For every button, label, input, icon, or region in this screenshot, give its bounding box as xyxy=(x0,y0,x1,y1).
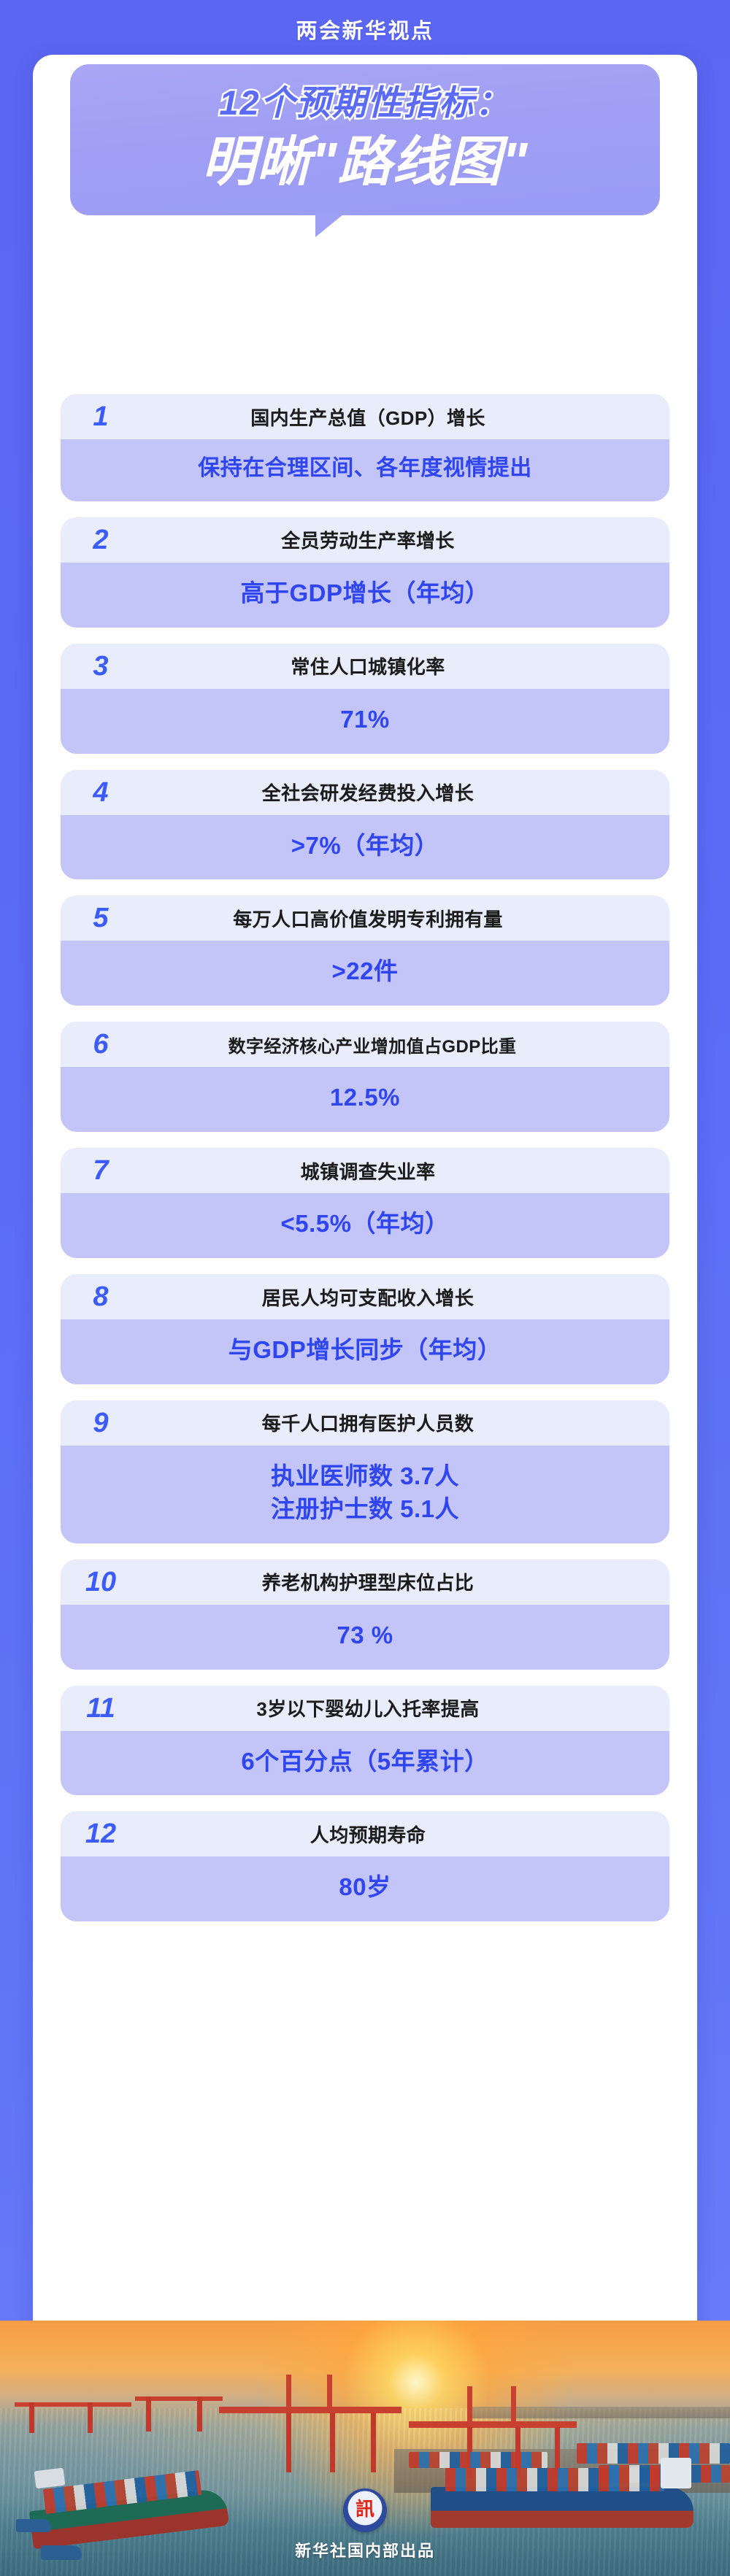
indicator-label: 每千人口拥有医护人员数 xyxy=(131,1409,656,1436)
indicator-card-header: 1国内生产总值（GDP）增长 xyxy=(61,394,669,439)
indicator-value-line: 注册护士数 5.1人 xyxy=(71,1493,659,1526)
far-shore-strip xyxy=(467,2407,730,2418)
gantry-crane-right-mast-1 xyxy=(467,2386,472,2426)
crane-small-left-leg-4 xyxy=(197,2396,202,2432)
indicator-value: 高于GDP增长（年均） xyxy=(61,563,669,628)
title-banner-wrapper: 12个预期性指标： 明晰"路线图" xyxy=(70,64,660,215)
indicator-card: 113岁以下婴幼儿入托率提高6个百分点（5年累计） xyxy=(61,1686,669,1796)
indicator-card-header: 6数字经济核心产业增加值占GDP比重 xyxy=(61,1022,669,1067)
indicator-value-line: >7%（年均） xyxy=(71,830,659,863)
indicator-card-header: 9每千人口拥有医护人员数 xyxy=(61,1400,669,1446)
container-ship-left-bridge xyxy=(34,2468,66,2489)
gantry-crane-center-leg-3 xyxy=(371,2413,376,2472)
indicator-card: 12人均预期寿命80岁 xyxy=(61,1811,669,1921)
container-ship-right-bridge xyxy=(661,2458,691,2488)
indicator-label: 城镇调查失业率 xyxy=(131,1157,656,1184)
indicator-value: 执业医师数 3.7人注册护士数 5.1人 xyxy=(61,1446,669,1543)
indicator-card-header: 10养老机构护理型床位占比 xyxy=(61,1559,669,1605)
indicator-value-line: 71% xyxy=(71,703,659,736)
container-yard-1 xyxy=(577,2443,730,2464)
indicator-card-header: 2全员劳动生产率增长 xyxy=(61,517,669,563)
indicator-number: 9 xyxy=(71,1409,131,1437)
indicator-number: 12 xyxy=(71,1820,131,1848)
indicator-label: 国内生产总值（GDP）增长 xyxy=(131,404,656,431)
page-header: 两会新华视点 xyxy=(0,0,730,58)
indicator-label: 全员劳动生产率增长 xyxy=(131,526,656,553)
indicator-label: 居民人均可支配收入增长 xyxy=(131,1284,656,1311)
indicator-card: 9每千人口拥有医护人员数执业医师数 3.7人注册护士数 5.1人 xyxy=(61,1400,669,1543)
indicator-card-header: 3常住人口城镇化率 xyxy=(61,644,669,689)
indicator-value: 保持在合理区间、各年度视情提出 xyxy=(61,439,669,501)
indicator-number: 7 xyxy=(71,1157,131,1184)
harbor-photo: 訊 新华社国内部出品 xyxy=(0,2321,730,2576)
indicator-value-line: 12.5% xyxy=(71,1081,659,1114)
indicator-label: 数字经济核心产业增加值占GDP比重 xyxy=(131,1032,656,1057)
indicator-card-header: 5每万人口高价值发明专利拥有量 xyxy=(61,895,669,941)
indicator-value: 12.5% xyxy=(61,1067,669,1132)
indicator-value: 6个百分点（5年累计） xyxy=(61,1731,669,1796)
title-banner: 12个预期性指标： 明晰"路线图" xyxy=(70,64,660,215)
xinhua-logo-icon: 訊 xyxy=(343,2488,387,2532)
indicator-value: 73 % xyxy=(61,1605,669,1670)
indicator-card: 2全员劳动生产率增长高于GDP增长（年均） xyxy=(61,517,669,628)
indicator-value: <5.5%（年均） xyxy=(61,1193,669,1258)
indicator-number: 4 xyxy=(71,779,131,806)
title-line-2: 明晰"路线图" xyxy=(70,129,660,195)
xinhua-logo-glyph: 訊 xyxy=(356,2500,374,2519)
indicator-card-header: 8居民人均可支配收入增长 xyxy=(61,1274,669,1319)
indicator-label: 人均预期寿命 xyxy=(131,1821,656,1848)
indicator-number: 11 xyxy=(71,1694,131,1722)
indicator-card-header: 12人均预期寿命 xyxy=(61,1811,669,1856)
indicator-value: >22件 xyxy=(61,941,669,1006)
indicator-value-line: >22件 xyxy=(71,955,659,988)
container-yard-3 xyxy=(409,2452,547,2468)
title-line-1: 12个预期性指标： xyxy=(70,82,660,125)
indicator-card-header: 113岁以下婴幼儿入托率提高 xyxy=(61,1686,669,1731)
indicator-label: 全社会研发经费投入增长 xyxy=(131,779,656,806)
indicator-card: 10养老机构护理型床位占比73 % xyxy=(61,1559,669,1670)
footer-credit-text: 新华社国内部出品 xyxy=(0,2538,730,2561)
crane-small-left-leg-1 xyxy=(29,2402,34,2433)
indicator-label: 3岁以下婴幼儿入托率提高 xyxy=(131,1694,656,1721)
indicator-value-line: 6个百分点（5年累计） xyxy=(71,1746,659,1778)
indicator-label: 每万人口高价值发明专利拥有量 xyxy=(131,905,656,932)
gantry-crane-center-mast-2 xyxy=(327,2375,332,2411)
indicator-value-line: 高于GDP增长（年均） xyxy=(71,577,659,610)
indicator-label: 养老机构护理型床位占比 xyxy=(131,1568,656,1595)
indicator-card: 7城镇调查失业率<5.5%（年均） xyxy=(61,1148,669,1258)
indicator-number: 1 xyxy=(71,403,131,431)
gantry-crane-center-leg-1 xyxy=(286,2413,291,2472)
indicator-card: 4全社会研发经费投入增长>7%（年均） xyxy=(61,770,669,880)
gantry-crane-right-boom xyxy=(409,2421,577,2428)
indicator-value-line: <5.5%（年均） xyxy=(71,1208,659,1241)
indicator-list: 1国内生产总值（GDP）增长保持在合理区间、各年度视情提出2全员劳动生产率增长高… xyxy=(61,394,669,1937)
indicator-number: 10 xyxy=(71,1568,131,1596)
crane-small-left-leg-3 xyxy=(146,2396,151,2432)
indicator-value-line: 执业医师数 3.7人 xyxy=(71,1460,659,1493)
indicator-value: 80岁 xyxy=(61,1856,669,1921)
indicator-value: >7%（年均） xyxy=(61,815,669,880)
indicator-card: 8居民人均可支配收入增长与GDP增长同步（年均） xyxy=(61,1274,669,1384)
indicator-card-header: 7城镇调查失业率 xyxy=(61,1148,669,1193)
indicator-value: 71% xyxy=(61,689,669,754)
indicator-card: 3常住人口城镇化率71% xyxy=(61,644,669,754)
page-header-title: 两会新华视点 xyxy=(296,14,434,45)
indicator-number: 5 xyxy=(71,904,131,932)
indicator-label: 常住人口城镇化率 xyxy=(131,652,656,679)
indicator-value-line: 80岁 xyxy=(71,1871,659,1904)
indicator-value: 与GDP增长同步（年均） xyxy=(61,1319,669,1384)
indicator-card: 1国内生产总值（GDP）增长保持在合理区间、各年度视情提出 xyxy=(61,394,669,501)
indicator-number: 3 xyxy=(71,652,131,680)
indicator-card: 6数字经济核心产业增加值占GDP比重12.5% xyxy=(61,1022,669,1132)
indicator-number: 6 xyxy=(71,1030,131,1058)
footer-credit-block: 訊 新华社国内部出品 xyxy=(0,2488,730,2561)
indicator-card: 5每万人口高价值发明专利拥有量>22件 xyxy=(61,895,669,1006)
indicator-number: 2 xyxy=(71,526,131,554)
indicator-value-line: 保持在合理区间、各年度视情提出 xyxy=(71,454,659,484)
indicator-value-line: 与GDP增长同步（年均） xyxy=(71,1334,659,1367)
gantry-crane-center-mast-1 xyxy=(286,2375,291,2411)
gantry-crane-right-mast-2 xyxy=(511,2386,516,2426)
crane-small-left-leg-2 xyxy=(88,2402,93,2433)
indicator-number: 8 xyxy=(71,1283,131,1311)
indicator-value-line: 73 % xyxy=(71,1619,659,1652)
gantry-crane-center-leg-2 xyxy=(330,2413,335,2472)
indicator-card-header: 4全社会研发经费投入增长 xyxy=(61,770,669,815)
